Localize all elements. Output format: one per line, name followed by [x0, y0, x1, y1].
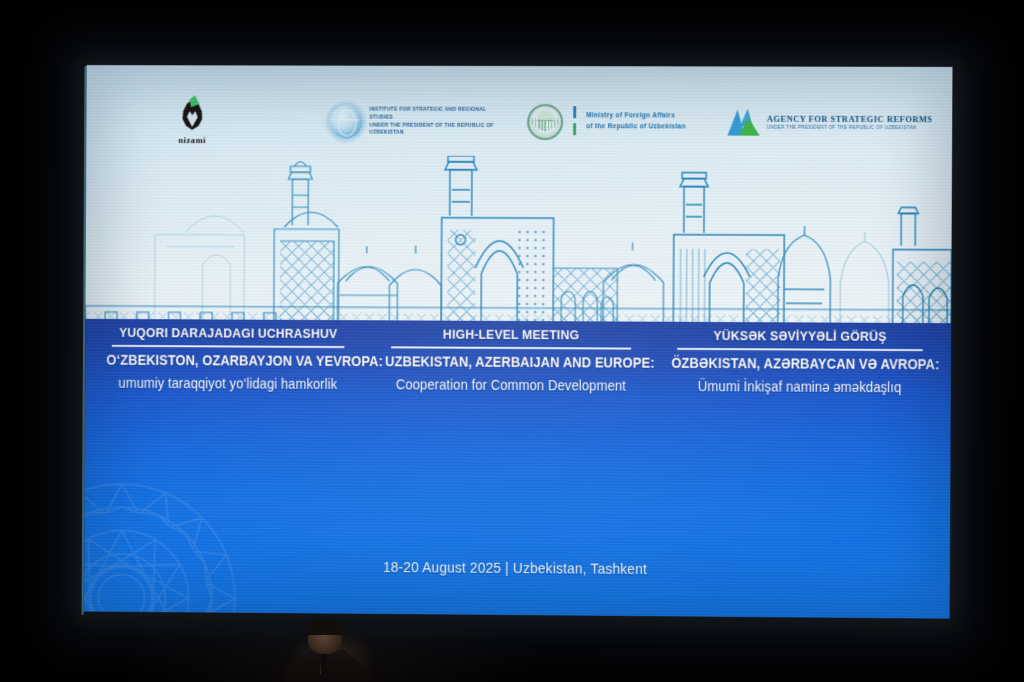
title-column-en: HIGH-LEVEL MEETING UZBEKISTAN, AZERBAIJA…	[371, 326, 651, 396]
title-columns: YUQORI DARAJADAGI UCHRASHUV O‘ZBEKISTON,…	[85, 325, 952, 460]
subtitle-en: Cooperation for Common Development	[382, 377, 640, 396]
title-en: UZBEKISTAN, AZERBAIJAN AND EUROPE:	[385, 354, 637, 372]
agency-triangles-logo	[728, 109, 760, 136]
nizami-wordmark: nizami	[178, 135, 206, 145]
subtitle-uz: umumiy taraqqiyot yo‘lidagi hamkorlik	[104, 376, 353, 394]
title-column-uz: YUQORI DARAJADAGI UCHRASHUV O‘ZBEKISTON,…	[93, 325, 364, 394]
logo-nizami: nizami	[177, 95, 207, 145]
logo-isrs: INSTITUTE FOR STRATEGIC AND REGIONAL STU…	[329, 106, 505, 139]
mfa-accent-bars	[573, 106, 576, 138]
mandala-ornament	[84, 467, 251, 618]
slide-header-area: nizami INSTITUTE FOR STRATEGIC AND REGIO…	[85, 65, 952, 326]
divider-az	[677, 348, 923, 351]
logo-asr: AGENCY FOR STRATEGIC REFORMS UNDER THE P…	[728, 109, 933, 137]
heading-uz: YUQORI DARAJADAGI UCHRASHUV	[107, 325, 350, 341]
projection-screen: nizami INSTITUTE FOR STRATEGIC AND REGIO…	[84, 65, 953, 619]
nizami-leaf-logo	[177, 95, 207, 133]
isrs-line-3: UZBEKISTAN	[369, 130, 505, 138]
logo-mfa: Ministry of Foreign Affairs of the Repub…	[527, 104, 686, 140]
title-az: ÖZBƏKISTAN, AZƏRBAYCAN VƏ AVROPA:	[671, 355, 928, 373]
registan-samarkand-skyline-line-art	[85, 155, 952, 329]
heading-az: YÜKSƏK SƏVİYYƏLİ GÖRÜŞ	[671, 328, 928, 344]
subtitle-az: Ümumi İnkişaf naminə əməkdaşlıq	[668, 379, 931, 398]
title-column-az: YÜKSƏK SƏVİYYƏLİ GÖRÜŞ ÖZBƏKISTAN, AZƏRB…	[657, 328, 943, 398]
asr-line-1: AGENCY FOR STRATEGIC REFORMS	[767, 114, 933, 123]
asr-line-2: UNDER THE PRESIDENT OF THE REPUBLIC OF U…	[767, 125, 933, 130]
slide-title-panel: YUQORI DARAJADAGI UCHRASHUV O‘ZBEKISTON,…	[84, 319, 951, 619]
mfa-line-1: Ministry of Foreign Affairs	[586, 112, 686, 123]
mfa-line-2: of the Republic of Uzbekistan	[586, 122, 686, 133]
heading-en: HIGH-LEVEL MEETING	[385, 326, 637, 342]
title-uz: O‘ZBEKISTON, OZARBAYJON VA YEVROPA:	[106, 352, 349, 370]
uzbekistan-state-emblem	[527, 104, 563, 140]
divider-en	[391, 346, 632, 349]
isrs-logo-text: INSTITUTE FOR STRATEGIC AND REGIONAL STU…	[369, 106, 505, 138]
presentation-slide: nizami INSTITUTE FOR STRATEGIC AND REGIO…	[84, 65, 953, 619]
asr-logo-text: AGENCY FOR STRATEGIC REFORMS UNDER THE P…	[767, 114, 933, 130]
auditorium-scene: nizami INSTITUTE FOR STRATEGIC AND REGIO…	[0, 0, 1024, 682]
speaker-silhouette	[272, 620, 392, 682]
globe-logo	[329, 106, 362, 139]
divider-uz	[112, 345, 344, 348]
mfa-logo-text: Ministry of Foreign Affairs of the Repub…	[586, 112, 686, 133]
isrs-line-1: INSTITUTE FOR STRATEGIC AND REGIONAL STU…	[369, 106, 505, 122]
